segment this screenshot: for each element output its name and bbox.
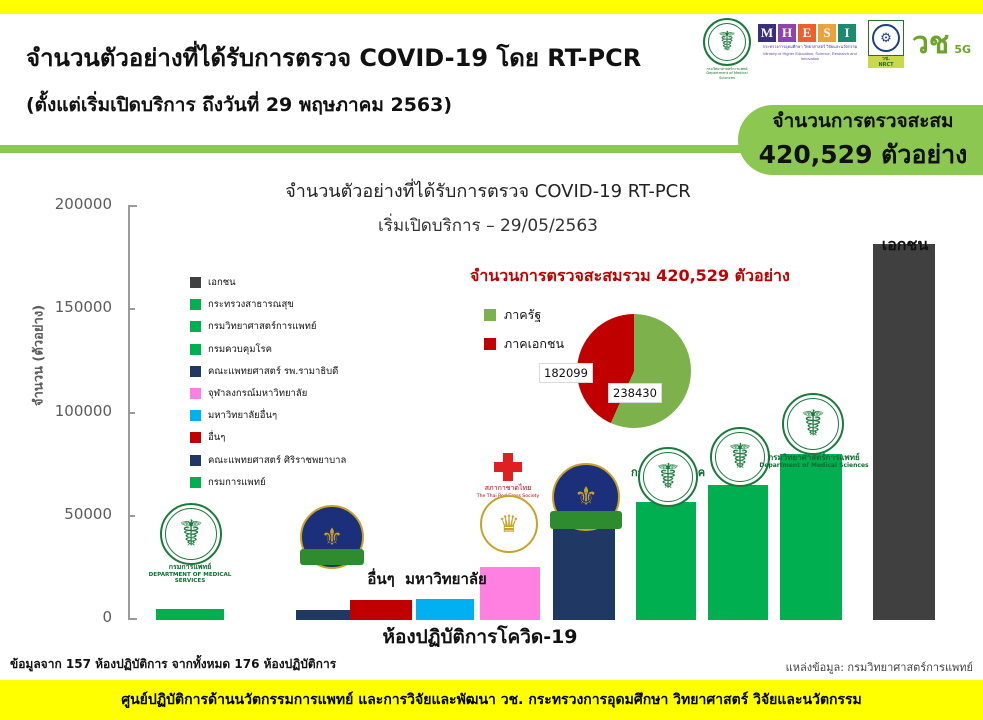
thai-red-cross-logo: สภากาชาดไทยThe Thai Red Cross Society xyxy=(466,453,550,499)
y-axis-labels: 050000100000150000200000 xyxy=(2,205,112,620)
legend-item-label: กรมการแพทย์ xyxy=(208,475,266,490)
y-axis-tick-label: 0 xyxy=(2,608,112,626)
logo-strip: ☤ กรมวิทยาศาสตร์การแพทย์ Department of M… xyxy=(700,18,980,76)
legend-swatch-icon xyxy=(190,455,201,466)
pie-chart xyxy=(577,314,691,428)
badge-label: จำนวนการตรวจสะสม xyxy=(772,106,953,136)
nrct-caption-en: NRCT xyxy=(868,62,904,68)
legend-swatch-icon xyxy=(190,344,201,355)
legend-item-label: คณะแพทยศาสตร์ รพ.รามาธิบดี xyxy=(208,364,338,379)
legend-item-label: เอกชน xyxy=(208,275,236,290)
mhesi-letter-s: S xyxy=(818,24,836,42)
cumulative-total-badge: จำนวนการตรวจสะสม 420,529 ตัวอย่าง xyxy=(738,105,983,175)
nrct-logo: ⚙ วช. NRCT xyxy=(868,20,908,72)
legend-swatch-icon xyxy=(190,432,201,443)
legend-item-label: กรมควบคุมโรค xyxy=(208,342,272,357)
chart-title: จำนวนตัวอย่างที่ได้รับการตรวจ COVID-19 R… xyxy=(228,176,748,205)
pie-legend-label: ภาครัฐ xyxy=(504,305,541,325)
bar-8 xyxy=(780,454,842,620)
badge-value: 420,529 ตัวอย่าง xyxy=(759,135,968,175)
bar-label-private: เอกชน xyxy=(843,233,967,258)
mhesi-letter-h: H xyxy=(778,24,796,42)
footnote-lab-count: ข้อมูลจาก 157 ห้องปฏิบัติการ จากทั้งหมด … xyxy=(10,655,336,674)
nrct-emblem-icon: ⚙ xyxy=(868,20,904,56)
legend-item-2[interactable]: กรมวิทยาศาสตร์การแพทย์ xyxy=(190,319,420,334)
y-axis-tick xyxy=(128,515,135,517)
x-axis-title: ห้องปฏิบัติการโควิด-19 xyxy=(330,622,630,652)
mhesi-caption-en: Ministry of Higher Education, Science, R… xyxy=(758,51,862,61)
dept-medical-services-caption-en: DEPARTMENT OF MEDICAL SERVICES xyxy=(138,572,242,585)
legend-item-0[interactable]: เอกชน xyxy=(190,275,420,290)
wch-5g-logo: วช 5G xyxy=(912,24,978,68)
mhesi-letter-e: E xyxy=(798,24,816,42)
legend-swatch-icon xyxy=(190,321,201,332)
legend-swatch-icon xyxy=(190,366,201,377)
legend-swatch-icon xyxy=(190,388,201,399)
y-axis-tick-label: 50000 xyxy=(2,505,112,523)
legend-item-9[interactable]: กรมการแพทย์ xyxy=(190,475,420,490)
moph-logo: ☤ กรมวิทยาศาสตร์การแพทย์ Department of M… xyxy=(700,18,754,72)
dms-caption-en: Department of Medical Sciences xyxy=(752,463,876,470)
pie-chart-title: จำนวนการตรวจสะสมรวม 420,529 ตัวอย่าง xyxy=(470,264,900,289)
bar-0 xyxy=(156,609,224,620)
wch-logo-text: วช xyxy=(912,26,949,61)
header-divider xyxy=(0,145,757,153)
bar-6 xyxy=(636,502,696,620)
y-axis-tick xyxy=(128,412,135,414)
pie-chart-legend: ภาครัฐภาคเอกชน xyxy=(484,305,564,363)
legend-item-label: อื่นๆ xyxy=(208,430,225,445)
y-axis-tick-label: 150000 xyxy=(2,298,112,316)
legend-item-1[interactable]: กระทรวงสาธารณสุข xyxy=(190,297,420,312)
bar-3 xyxy=(416,599,474,620)
page-subtitle: (ตั้งแต่เริ่มเปิดบริการ ถึงวันที่ 29 พฤษ… xyxy=(26,90,726,120)
mhesi-letter-i: I xyxy=(838,24,856,42)
dept-medical-services-caption-th: กรมการแพทย์ xyxy=(138,563,242,571)
legend-item-4[interactable]: คณะแพทยศาสตร์ รพ.รามาธิบดี xyxy=(190,364,420,379)
legend-item-8[interactable]: คณะแพทยศาสตร์ ศิริราชพยาบาล xyxy=(190,453,420,468)
chulalongkorn-seal-icon: ♛ xyxy=(480,495,538,553)
pie-legend-label: ภาคเอกชน xyxy=(504,334,564,354)
y-axis-tick xyxy=(128,205,135,207)
dms-caption-th: กรมวิทยาศาสตร์การแพทย์ xyxy=(752,453,876,462)
legend-item-label: คณะแพทยศาสตร์ ศิริราชพยาบาล xyxy=(208,453,346,468)
legend-item-label: จุฬาลงกรณ์มหาวิทยาลัย xyxy=(208,386,307,401)
mhesi-letter-m: M xyxy=(758,24,776,42)
y-axis-tick-label: 200000 xyxy=(2,195,112,213)
bar-7 xyxy=(708,485,768,620)
pie-legend-item-1[interactable]: ภาคเอกชน xyxy=(484,334,564,354)
legend-item-label: มหาวิทยาลัยอื่นๆ xyxy=(208,408,277,423)
legend-item-7[interactable]: อื่นๆ xyxy=(190,430,420,445)
legend-item-5[interactable]: จุฬาลงกรณ์มหาวิทยาลัย xyxy=(190,386,420,401)
y-axis-tick-label: 100000 xyxy=(2,402,112,420)
dms-moph-seal-icon: ☤ xyxy=(782,393,844,455)
pie-label-government: 238430 xyxy=(608,383,662,403)
pie-legend-swatch-icon xyxy=(484,338,496,350)
mhesi-caption-th: กระทรวงการอุดมศึกษา วิทยาศาสตร์ วิจัยและ… xyxy=(758,44,862,49)
legend-item-label: กรมวิทยาศาสตร์การแพทย์ xyxy=(208,319,316,334)
legend-item-label: กระทรวงสาธารณสุข xyxy=(208,297,294,312)
pie-legend-item-0[interactable]: ภาครัฐ xyxy=(484,305,564,325)
bar-9 xyxy=(873,244,935,620)
legend-item-6[interactable]: มหาวิทยาลัยอื่นๆ xyxy=(190,408,420,423)
mhesi-letter-blocks: M H E S I xyxy=(758,24,862,42)
wch-logo-5g: 5G xyxy=(954,43,971,56)
y-axis-tick xyxy=(128,618,135,620)
pie-legend-swatch-icon xyxy=(484,309,496,321)
mahidol-seal-icon: ⚜ xyxy=(300,505,364,569)
legend-item-3[interactable]: กรมควบคุมโรค xyxy=(190,342,420,357)
bar-label-university: มหาวิทยาลัย xyxy=(400,567,492,591)
page-title: จำนวนตัวอย่างที่ได้รับการตรวจ COVID-19 โ… xyxy=(26,45,726,72)
footer-banner-text: ศูนย์ปฏิบัติการด้านนวัตกรรมการแพทย์ และก… xyxy=(0,689,983,711)
chart-legend: เอกชนกระทรวงสาธารณสุขกรมวิทยาศาสตร์การแพ… xyxy=(190,275,420,497)
legend-swatch-icon xyxy=(190,410,201,421)
legend-swatch-icon xyxy=(190,477,201,488)
bar-2 xyxy=(350,600,412,620)
legend-swatch-icon xyxy=(190,277,201,288)
y-axis-tick xyxy=(128,308,135,310)
moph-logo-caption: กรมวิทยาศาสตร์การแพทย์ Department of Med… xyxy=(700,67,754,80)
ddc-moph-seal-icon: ☤ xyxy=(638,447,698,507)
y-axis-title: จำนวน (ตัวอย่าง) xyxy=(28,276,49,436)
ramathibodi-seal-icon: ⚜ xyxy=(552,463,620,531)
mhesi-logo: M H E S I กระทรวงการอุดมศึกษา วิทยาศาสตร… xyxy=(758,24,862,68)
pie-label-private: 182099 xyxy=(539,363,593,383)
top-yellow-band xyxy=(0,0,983,14)
dept-medical-services-seal-icon: ☤ xyxy=(160,503,222,565)
moph-seal-icon: ☤ xyxy=(703,18,751,66)
footnote-data-source: แหล่งข้อมูล: กรมวิทยาศาสตร์การแพทย์ xyxy=(786,658,973,676)
legend-swatch-icon xyxy=(190,299,201,310)
